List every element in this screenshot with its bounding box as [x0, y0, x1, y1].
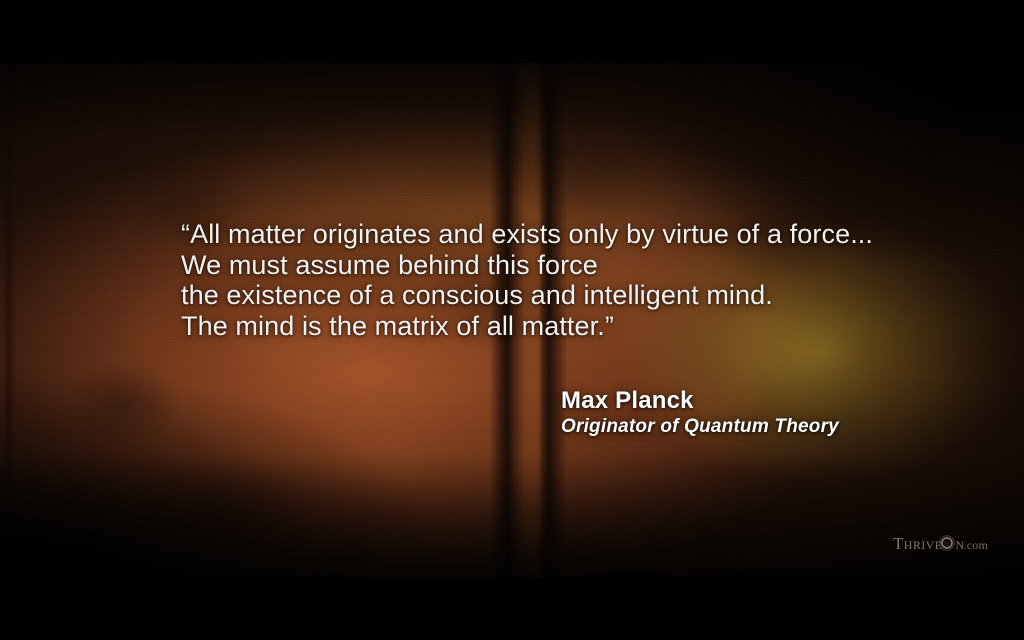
- watermark-text-dotcom: .com: [964, 538, 988, 553]
- letterbox-bar-bottom: [0, 578, 1024, 640]
- attribution-block: Max Planck Originator of Quantum Theory: [561, 387, 839, 439]
- quote-slide: “All matter originates and exists only b…: [0, 0, 1024, 640]
- quote-line-2: We must assume behind this force: [181, 250, 873, 281]
- watermark-logo[interactable]: Thrive n .com: [893, 533, 988, 553]
- quote-line-3: the existence of a conscious and intelli…: [181, 280, 873, 311]
- attribution-name: Max Planck: [561, 387, 839, 415]
- quote-line-4: The mind is the matrix of all matter.”: [181, 311, 873, 342]
- quote-line-1: “All matter originates and exists only b…: [181, 219, 873, 250]
- attribution-role: Originator of Quantum Theory: [561, 415, 839, 439]
- watermark-text-thrive: Thrive: [893, 535, 942, 553]
- eclipse-o-icon: [939, 535, 955, 551]
- quote-text-block: “All matter originates and exists only b…: [181, 219, 873, 341]
- letterbox-bar-top: [0, 0, 1024, 63]
